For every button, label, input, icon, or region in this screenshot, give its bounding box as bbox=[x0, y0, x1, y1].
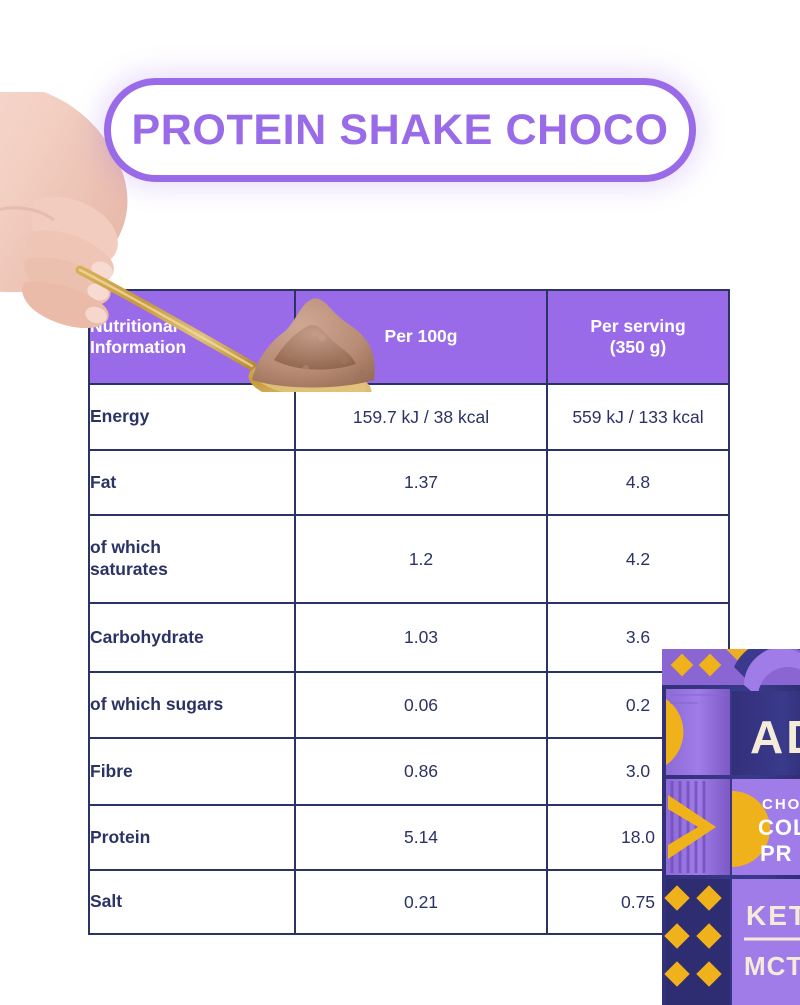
package-text-cho: CHO bbox=[762, 796, 800, 813]
cell-fat-per-100g: 1.37 bbox=[295, 450, 547, 515]
table-row: Carbohydrate 1.03 3.6 bbox=[89, 603, 729, 672]
cell-energy-per-serving: 559 kJ / 133 kcal bbox=[547, 384, 729, 450]
header-per-serving-line1: Per serving bbox=[548, 316, 728, 337]
cell-carbohydrate-per-100g: 1.03 bbox=[295, 603, 547, 672]
table-row: Protein 5.14 18.0 bbox=[89, 805, 729, 870]
row-label-energy: Energy bbox=[89, 384, 295, 450]
package-text-keto: KETO bbox=[746, 900, 800, 931]
table-body: Energy 159.7 kJ / 38 kcal 559 kJ / 133 k… bbox=[89, 384, 729, 934]
cell-energy-per-100g: 159.7 kJ / 38 kcal bbox=[295, 384, 547, 450]
row-label-protein: Protein bbox=[89, 805, 295, 870]
cell-carbohydrate-per-serving: 3.6 bbox=[547, 603, 729, 672]
row-label-line1: Fat bbox=[90, 472, 294, 494]
title-banner: PROTEIN SHAKE CHOCO bbox=[104, 78, 696, 182]
row-label-line1: of which bbox=[90, 537, 294, 559]
table-header-row: Nutritional Information Per 100g Per ser… bbox=[89, 290, 729, 384]
table-row: Fat 1.37 4.8 bbox=[89, 450, 729, 515]
cell-saturates-per-serving: 4.2 bbox=[547, 515, 729, 603]
cell-protein-per-100g: 5.14 bbox=[295, 805, 547, 870]
header-label-line2: Information bbox=[90, 337, 294, 358]
row-label-line1: Fibre bbox=[90, 761, 294, 783]
header-per-serving-line2: (350 g) bbox=[548, 337, 728, 358]
row-label-sugars: of which sugars bbox=[89, 672, 295, 738]
header-cell-nutritional-information: Nutritional Information bbox=[89, 290, 295, 384]
cell-fibre-per-serving: 3.0 bbox=[547, 738, 729, 805]
cell-salt-per-serving: 0.75 bbox=[547, 870, 729, 934]
row-label-fibre: Fibre bbox=[89, 738, 295, 805]
package-text-pr: PR bbox=[760, 841, 793, 866]
row-label-salt: Salt bbox=[89, 870, 295, 934]
row-label-saturates: of which saturates bbox=[89, 515, 295, 603]
row-label-line2: saturates bbox=[90, 559, 294, 581]
table-header: Nutritional Information Per 100g Per ser… bbox=[89, 290, 729, 384]
row-label-fat: Fat bbox=[89, 450, 295, 515]
row-label-line1: of which sugars bbox=[90, 694, 294, 716]
cell-fat-per-serving: 4.8 bbox=[547, 450, 729, 515]
package-text-mcts: MCT'S bbox=[744, 951, 800, 981]
table-row: Energy 159.7 kJ / 38 kcal 559 kJ / 133 k… bbox=[89, 384, 729, 450]
cell-fibre-per-100g: 0.86 bbox=[295, 738, 547, 805]
table-row: of which saturates 1.2 4.2 bbox=[89, 515, 729, 603]
cell-saturates-per-100g: 1.2 bbox=[295, 515, 547, 603]
header-per-100g-label: Per 100g bbox=[296, 326, 546, 347]
row-label-line1: Protein bbox=[90, 827, 294, 849]
table-row: Salt 0.21 0.75 bbox=[89, 870, 729, 934]
cell-salt-per-100g: 0.21 bbox=[295, 870, 547, 934]
package-text-col: COL bbox=[758, 815, 800, 840]
cell-sugars-per-serving: 0.2 bbox=[547, 672, 729, 738]
row-label-line1: Carbohydrate bbox=[90, 627, 294, 649]
table-row: of which sugars 0.06 0.2 bbox=[89, 672, 729, 738]
page-title: PROTEIN SHAKE CHOCO bbox=[132, 109, 669, 152]
row-label-line1: Salt bbox=[90, 891, 294, 913]
nutrition-table: Nutritional Information Per 100g Per ser… bbox=[88, 289, 730, 935]
row-label-line1: Energy bbox=[90, 406, 294, 428]
cell-protein-per-serving: 18.0 bbox=[547, 805, 729, 870]
header-label-line1: Nutritional bbox=[90, 316, 294, 337]
header-cell-per-serving: Per serving (350 g) bbox=[547, 290, 729, 384]
cell-sugars-per-100g: 0.06 bbox=[295, 672, 547, 738]
row-label-carbohydrate: Carbohydrate bbox=[89, 603, 295, 672]
table-row: Fibre 0.86 3.0 bbox=[89, 738, 729, 805]
header-cell-per-100g: Per 100g bbox=[295, 290, 547, 384]
package-text-ad: AD bbox=[750, 711, 800, 763]
